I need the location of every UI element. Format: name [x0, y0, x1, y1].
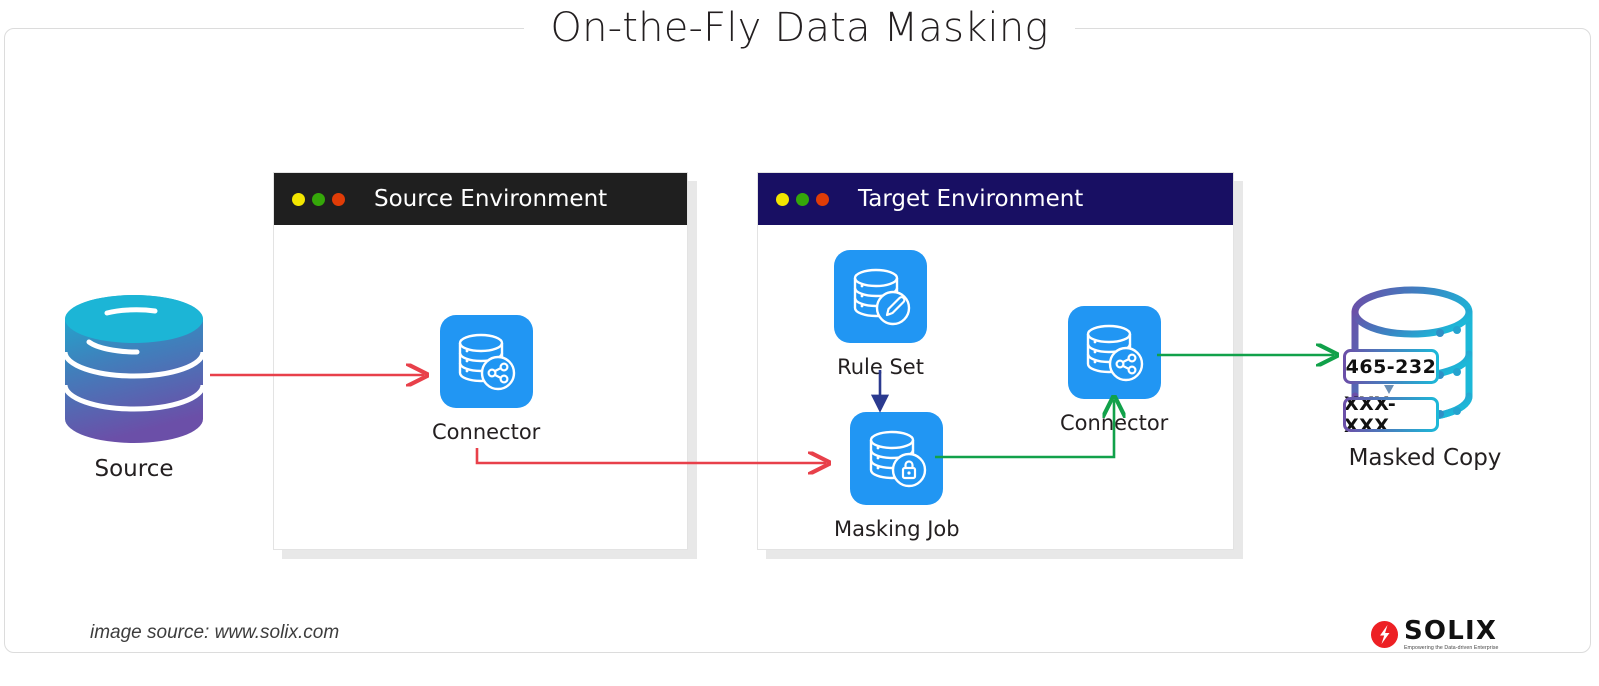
- solix-tagline: Empowering the Data-driven Enterprise: [1404, 646, 1499, 651]
- solix-logo[interactable]: SOLIX Empowering the Data-driven Enterpr…: [1357, 618, 1507, 651]
- value-box-masked: XXX-XXX: [1344, 398, 1438, 431]
- panel-target-header: Target Environment: [758, 173, 1233, 225]
- rule-set-label: Rule Set: [837, 355, 924, 379]
- window-dot-yellow-icon: [776, 193, 789, 206]
- value-box-original: 465-232: [1344, 350, 1438, 383]
- node-target-connector[interactable]: Connector: [1060, 306, 1168, 435]
- window-dot-green-icon: [796, 193, 809, 206]
- database-lock-icon: [850, 412, 943, 505]
- node-source-connector[interactable]: Connector: [432, 315, 540, 444]
- node-masking-job[interactable]: Masking Job: [834, 412, 960, 541]
- panel-target-title: Target Environment: [858, 186, 1083, 212]
- source-database-label: Source: [95, 456, 174, 482]
- window-dot-green-icon: [312, 193, 325, 206]
- window-dot-yellow-icon: [292, 193, 305, 206]
- node-source-database[interactable]: Source: [63, 295, 205, 482]
- node-rule-set[interactable]: Rule Set: [834, 250, 927, 379]
- window-dot-red-icon: [816, 193, 829, 206]
- solix-name: SOLIX: [1404, 618, 1499, 644]
- database-share-icon: [440, 315, 533, 408]
- database-share-icon: [1068, 306, 1161, 399]
- solix-wordmark: SOLIX Empowering the Data-driven Enterpr…: [1404, 618, 1499, 651]
- panel-source-header: Source Environment: [274, 173, 687, 225]
- image-source-note: image source: www.solix.com: [78, 622, 351, 644]
- panel-source-title: Source Environment: [374, 186, 607, 212]
- database-pencil-icon: [834, 250, 927, 343]
- masking-job-label: Masking Job: [834, 517, 960, 541]
- target-connector-label: Connector: [1060, 411, 1168, 435]
- masked-copy-label: Masked Copy: [1335, 445, 1515, 471]
- database-cylinder-icon: [63, 295, 205, 448]
- source-connector-label: Connector: [432, 420, 540, 444]
- window-dot-red-icon: [332, 193, 345, 206]
- solix-bolt-icon: [1371, 621, 1398, 648]
